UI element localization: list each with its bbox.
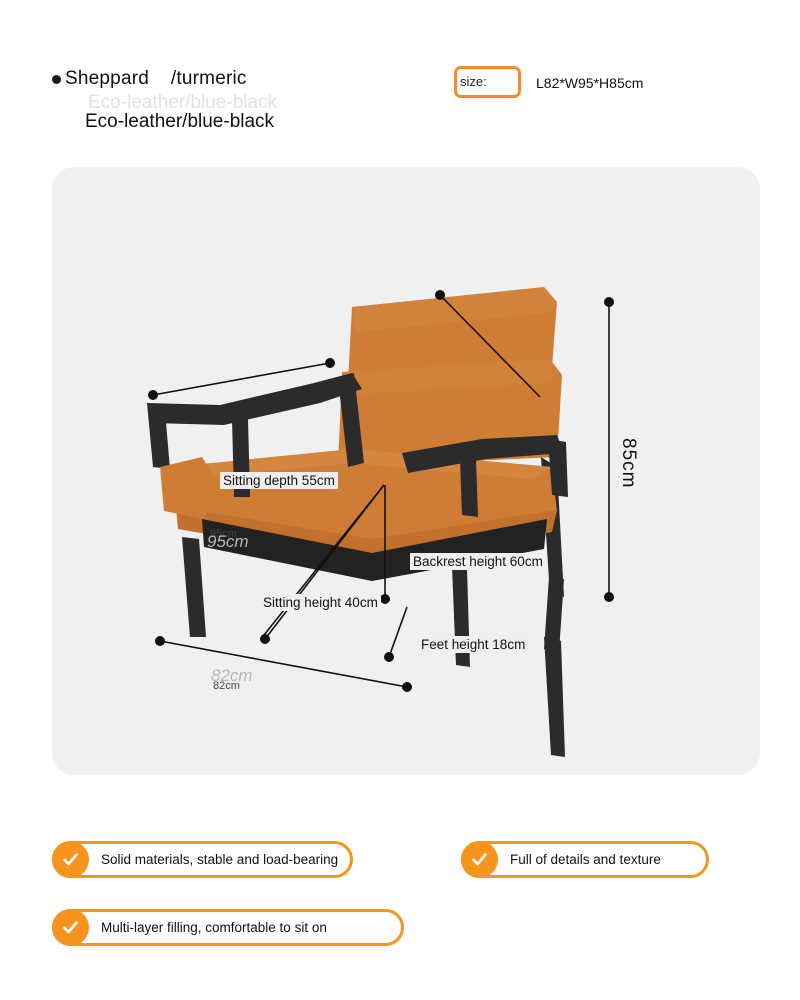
check-icon (52, 841, 89, 878)
feature-label: Multi-layer filling, comfortable to sit … (55, 920, 341, 935)
dim-feet-height: Feet height 18cm (418, 636, 528, 653)
product-illustration (52, 167, 760, 775)
size-label: size: (460, 74, 487, 89)
check-icon (461, 841, 498, 878)
check-icon (52, 909, 89, 946)
size-value: L82*W95*H85cm (536, 75, 643, 91)
dim-backrest-height: Backrest height 60cm (410, 553, 546, 570)
product-title-line1: Sheppard /turmeric (65, 68, 247, 90)
dim-width-ghost: 95cm (204, 531, 252, 553)
feature-label: Solid materials, stable and load-bearing (55, 852, 352, 867)
product-hero-panel: 95cm 95cm Backrest height 60cm Sitting d… (52, 167, 760, 775)
feature-pill: Full of details and texture (461, 841, 709, 878)
dim-total-height: 85cm (614, 437, 642, 489)
product-title-line2: Eco-leather/blue-black (85, 111, 274, 133)
dim-depth-ghost: 82cm (208, 665, 256, 687)
feature-pill: Multi-layer filling, comfortable to sit … (52, 909, 404, 946)
page-header: Sheppard /turmeric Eco-leather/blue-blac… (0, 0, 800, 160)
left-armrest (147, 373, 362, 425)
feature-pill: Solid materials, stable and load-bearing (52, 841, 353, 878)
dim-sitting-depth: Sitting depth 55cm (220, 472, 338, 489)
dim-sitting-height: Sitting height 40cm (260, 594, 381, 611)
title-bullet-icon (52, 75, 61, 84)
